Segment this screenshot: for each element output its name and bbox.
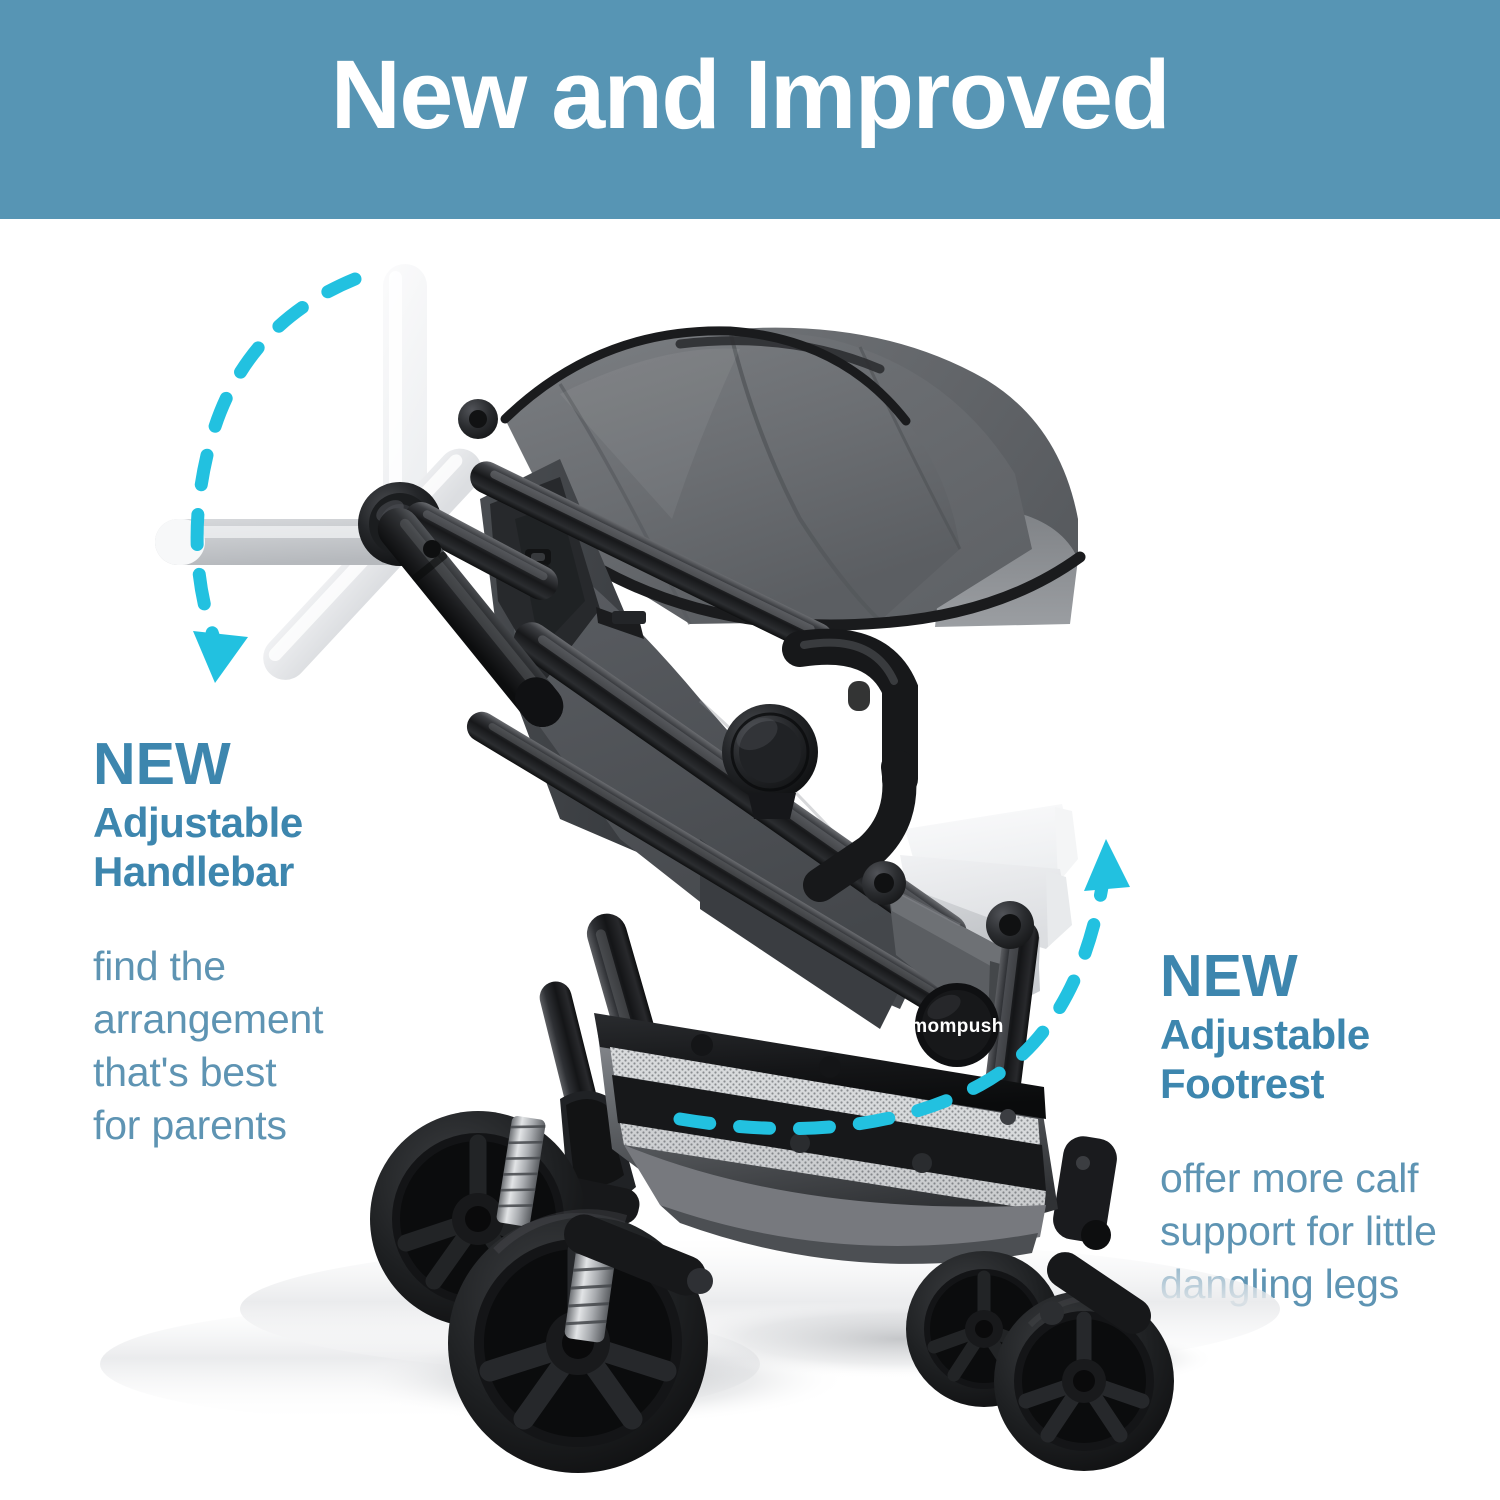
product-illustration: mompush (0, 219, 1500, 1500)
infographic-page: New and Improved NEW Adjustable Handleba… (0, 0, 1500, 1500)
arrowhead-up-icon (1084, 839, 1130, 891)
header-banner: New and Improved (0, 0, 1500, 219)
page-title: New and Improved (0, 44, 1500, 146)
brand-logo-text: mompush (910, 1016, 1004, 1037)
arrowhead-down-icon (193, 631, 248, 683)
